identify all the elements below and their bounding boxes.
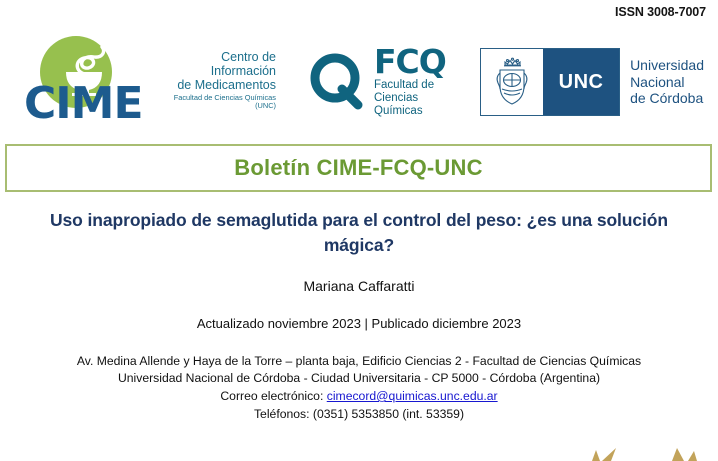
- fcq-text-block: FCQ Facultad de Ciencias Químicas: [374, 46, 466, 118]
- footer-email-link[interactable]: cimecord@quimicas.unc.edu.ar: [327, 389, 498, 403]
- fcq-q-mark-icon: [306, 51, 368, 113]
- unc-name-line2: Nacional: [630, 74, 704, 91]
- footer-address-line2: Universidad Nacional de Córdoba - Ciudad…: [0, 370, 718, 388]
- unc-logo: UNC Universidad Nacional de Córdoba: [480, 42, 704, 122]
- cime-subtitle-line1: Centro de Información: [172, 50, 276, 78]
- fcq-wordmark: FCQ: [374, 46, 466, 77]
- cime-subtitle-line3: Facultad de Ciencias Químicas (UNC): [172, 94, 276, 111]
- fcq-subtitle-line2: Ciencias Químicas: [374, 92, 466, 118]
- logo-band: CIME Centro de Información de Medicament…: [0, 26, 718, 138]
- footer-email-label: Correo electrónico:: [220, 389, 323, 403]
- cime-logo: CIME Centro de Información de Medicament…: [24, 36, 276, 128]
- unc-crest-container: [481, 49, 543, 115]
- issn-text: ISSN 3008-7007: [615, 5, 706, 19]
- bulletin-banner-title: Boletín CIME-FCQ-UNC: [234, 155, 482, 181]
- unc-name-line1: Universidad: [630, 57, 704, 74]
- gold-chevron-ornament: [0, 439, 718, 461]
- unc-logo-block: UNC: [480, 48, 620, 116]
- issn-row: ISSN 3008-7007: [0, 0, 718, 26]
- banner-wrapper: Boletín CIME-FCQ-UNC: [0, 138, 718, 192]
- cime-wordmark: CIME: [24, 82, 143, 126]
- unc-name-line3: de Córdoba: [630, 90, 704, 107]
- article-header: Uso inapropiado de semaglutida para el c…: [0, 192, 718, 331]
- page-title: Uso inapropiado de semaglutida para el c…: [32, 208, 686, 258]
- fcq-logo: FCQ Facultad de Ciencias Químicas: [306, 42, 466, 122]
- article-author: Mariana Caffaratti: [32, 278, 686, 294]
- unc-coat-of-arms-icon: [493, 56, 531, 108]
- cime-logomark: CIME: [24, 36, 172, 128]
- fcq-subtitle-line1: Facultad de: [374, 79, 466, 92]
- bulletin-banner: Boletín CIME-FCQ-UNC: [5, 144, 712, 192]
- footer-contact-block: Av. Medina Allende y Haya de la Torre – …: [0, 353, 718, 424]
- cime-subtitle: Centro de Información de Medicamentos Fa…: [172, 50, 276, 115]
- footer-phones: Teléfonos: (0351) 5353850 (int. 53359): [0, 406, 718, 424]
- footer-email-row: Correo electrónico: cimecord@quimicas.un…: [0, 388, 718, 406]
- footer-address-line1: Av. Medina Allende y Haya de la Torre – …: [0, 353, 718, 371]
- cime-subtitle-line2: de Medicamentos: [172, 78, 276, 92]
- unc-badge: UNC: [543, 49, 619, 115]
- unc-name-block: Universidad Nacional de Córdoba: [630, 57, 704, 107]
- article-dates: Actualizado noviembre 2023 | Publicado d…: [32, 316, 686, 331]
